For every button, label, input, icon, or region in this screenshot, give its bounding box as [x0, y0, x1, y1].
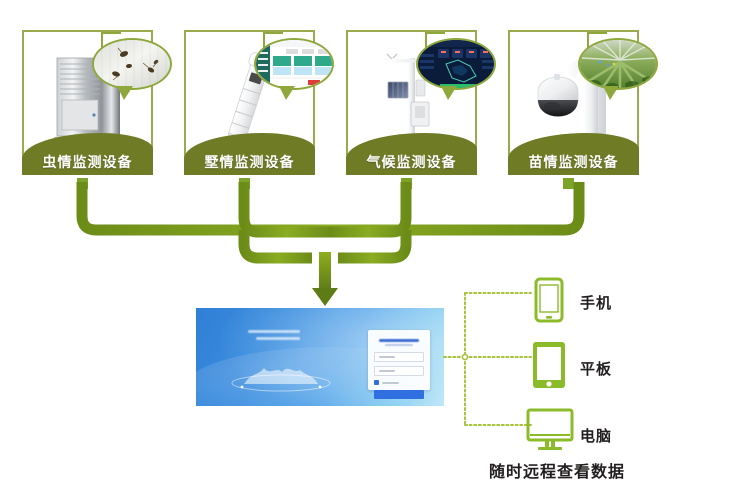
- client-phone-label: 手机: [580, 292, 612, 313]
- bubble-tail-crop: [603, 86, 619, 100]
- card-stub-crop: [563, 178, 574, 189]
- card-band-soil: 墅情监测设备: [184, 133, 315, 175]
- card-stub-weather: [401, 178, 412, 189]
- equipment-card-label-pest: 虫情监测设备: [22, 154, 153, 170]
- cloud-platform-login-screenshot[interactable]: [196, 308, 444, 406]
- dashboard-mountain-graphic: [228, 358, 334, 392]
- login-subtitle: [385, 344, 413, 346]
- card-stub-soil: [239, 178, 250, 189]
- client-tablet[interactable]: [531, 340, 567, 395]
- card-band-crop: 苗情监测设备: [508, 133, 639, 175]
- diagram-canvas: 虫情监测设备: [0, 0, 750, 500]
- client-tablet-label: 平板: [580, 358, 612, 379]
- client-pc-label: 电脑: [580, 425, 612, 446]
- pest-closeup-bubble[interactable]: [92, 38, 172, 90]
- card-band-pest: 虫情监测设备: [22, 133, 153, 175]
- dashboard-login-card[interactable]: [368, 330, 430, 390]
- greenhouse-crop-view-bubble[interactable]: [578, 38, 658, 90]
- bubble-tail-soil: [279, 86, 295, 100]
- bubble-tail-weather: [441, 86, 457, 100]
- soil-data-dashboard-bubble[interactable]: [254, 38, 334, 90]
- equipment-card-label-weather: 气候监测设备: [346, 154, 477, 170]
- card-band-weather: 气候监测设备: [346, 133, 477, 175]
- login-remember-checkbox[interactable]: [374, 380, 424, 386]
- login-username-input[interactable]: [374, 352, 424, 362]
- remote-access-note: 随时远程查看数据: [489, 458, 625, 482]
- login-submit-button[interactable]: [374, 390, 424, 399]
- dashboard-hero-text: [244, 330, 320, 346]
- bubble-tail-pest: [117, 86, 133, 100]
- equipment-card-label-crop: 苗情监测设备: [508, 154, 639, 170]
- weather-data-screen-bubble[interactable]: [416, 38, 496, 90]
- client-pc[interactable]: [526, 408, 574, 457]
- card-stub-pest: [77, 178, 88, 189]
- smartphone-icon: [534, 277, 564, 323]
- equipment-card-label-soil: 墅情监测设备: [184, 154, 315, 170]
- desktop-monitor-icon: [526, 408, 574, 452]
- login-password-input[interactable]: [374, 366, 424, 376]
- login-title: [379, 339, 419, 342]
- client-phone[interactable]: [534, 277, 564, 328]
- tablet-icon: [531, 340, 567, 390]
